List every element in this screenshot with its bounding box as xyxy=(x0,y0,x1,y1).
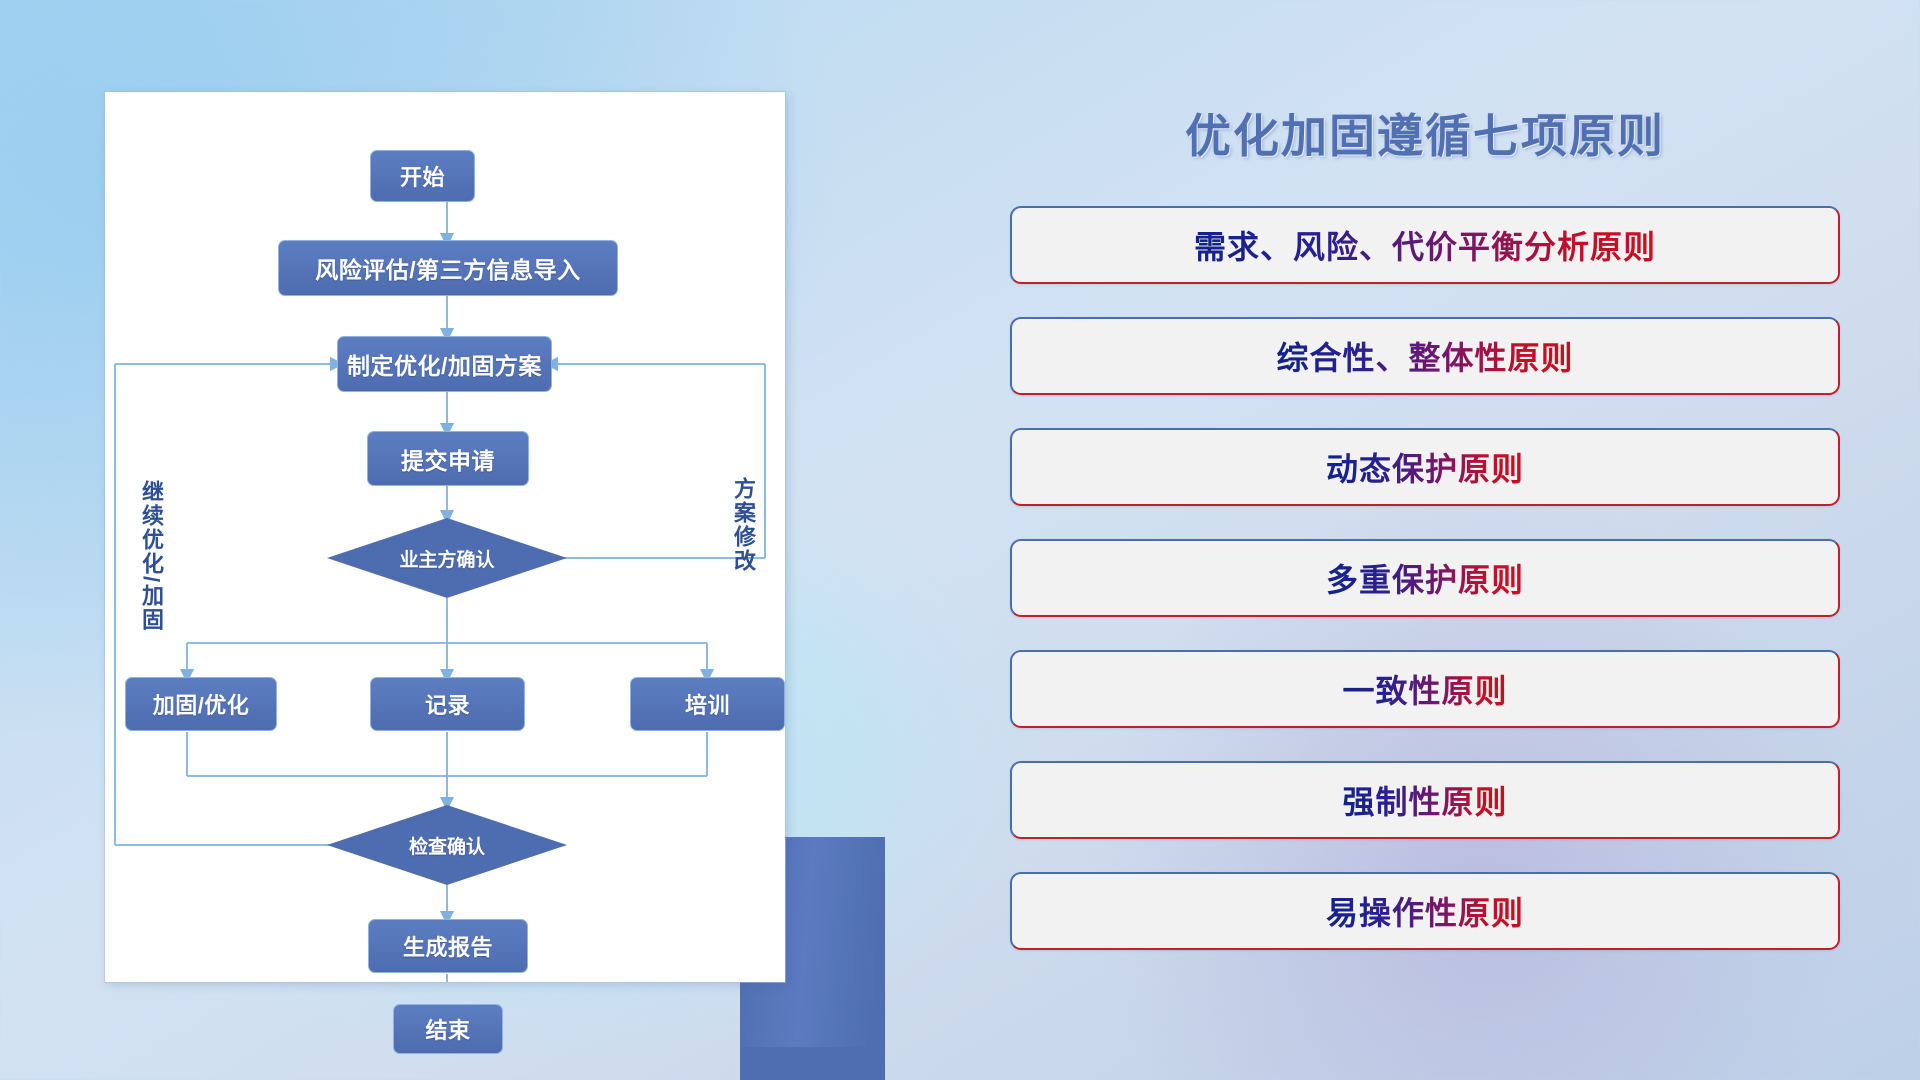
page-title: 优化加固遵循七项原则 xyxy=(1010,100,1840,166)
flow-node-check-confirm-label: 检查确认 xyxy=(409,832,485,859)
flow-node-end-label: 结束 xyxy=(425,1013,470,1045)
principle-item-7[interactable]: 易操作性原则 xyxy=(1010,872,1840,950)
principle-item-6[interactable]: 强制性原则 xyxy=(1010,761,1840,839)
flow-node-owner-confirm[interactable]: 业主方确认 xyxy=(327,518,567,598)
flow-node-training-label: 培训 xyxy=(685,688,730,720)
principle-item-4[interactable]: 多重保护原则 xyxy=(1010,539,1840,617)
flow-node-record-label: 记录 xyxy=(425,688,470,720)
flow-node-submit-application[interactable]: 提交申请 xyxy=(367,431,529,486)
principle-item-5-label: 一致性原则 xyxy=(1342,666,1507,712)
flow-node-generate-report-label: 生成报告 xyxy=(403,930,493,962)
edge-label-continue-optimize: 继续优化/加固 xyxy=(135,480,167,632)
edge-label-plan-revision: 方案修改 xyxy=(727,477,759,573)
flow-node-reinforce[interactable]: 加固/优化 xyxy=(125,677,277,731)
principle-item-2-label: 综合性、整体性原则 xyxy=(1276,333,1573,379)
principle-item-2[interactable]: 综合性、整体性原则 xyxy=(1010,317,1840,395)
flow-node-end[interactable]: 结束 xyxy=(393,1004,503,1054)
flow-node-risk-assessment-label: 风险评估/第三方信息导入 xyxy=(315,251,580,285)
principle-item-3-label: 动态保护原则 xyxy=(1326,444,1524,490)
flow-node-make-plan-label: 制定优化/加固方案 xyxy=(347,347,542,381)
principle-item-1-label: 需求、风险、代价平衡分析原则 xyxy=(1194,222,1656,268)
decorative-accent-bar-bottom xyxy=(740,1047,885,1080)
flow-node-start[interactable]: 开始 xyxy=(370,150,475,202)
flow-node-record[interactable]: 记录 xyxy=(370,677,525,731)
flowchart-card: 开始 风险评估/第三方信息导入 制定优化/加固方案 提交申请 业主方确认 加固/… xyxy=(105,92,785,982)
principles-panel: 优化加固遵循七项原则 需求、风险、代价平衡分析原则 综合性、整体性原则 动态保护… xyxy=(1010,100,1840,983)
flow-node-reinforce-label: 加固/优化 xyxy=(153,688,250,720)
principle-item-1[interactable]: 需求、风险、代价平衡分析原则 xyxy=(1010,206,1840,284)
principle-item-4-label: 多重保护原则 xyxy=(1326,555,1524,601)
flow-node-check-confirm[interactable]: 检查确认 xyxy=(327,805,567,885)
flow-node-owner-confirm-label: 业主方确认 xyxy=(399,545,494,572)
principle-item-5[interactable]: 一致性原则 xyxy=(1010,650,1840,728)
principle-item-3[interactable]: 动态保护原则 xyxy=(1010,428,1840,506)
flow-node-risk-assessment[interactable]: 风险评估/第三方信息导入 xyxy=(278,240,618,296)
flow-node-training[interactable]: 培训 xyxy=(630,677,785,731)
principle-item-7-label: 易操作性原则 xyxy=(1326,888,1524,934)
flow-node-start-label: 开始 xyxy=(400,160,445,192)
flow-node-make-plan[interactable]: 制定优化/加固方案 xyxy=(337,336,552,392)
principle-item-6-label: 强制性原则 xyxy=(1342,777,1507,823)
flow-node-submit-application-label: 提交申请 xyxy=(401,442,495,476)
flowchart-panel: 开始 风险评估/第三方信息导入 制定优化/加固方案 提交申请 业主方确认 加固/… xyxy=(105,92,785,964)
flow-node-generate-report[interactable]: 生成报告 xyxy=(368,919,528,973)
